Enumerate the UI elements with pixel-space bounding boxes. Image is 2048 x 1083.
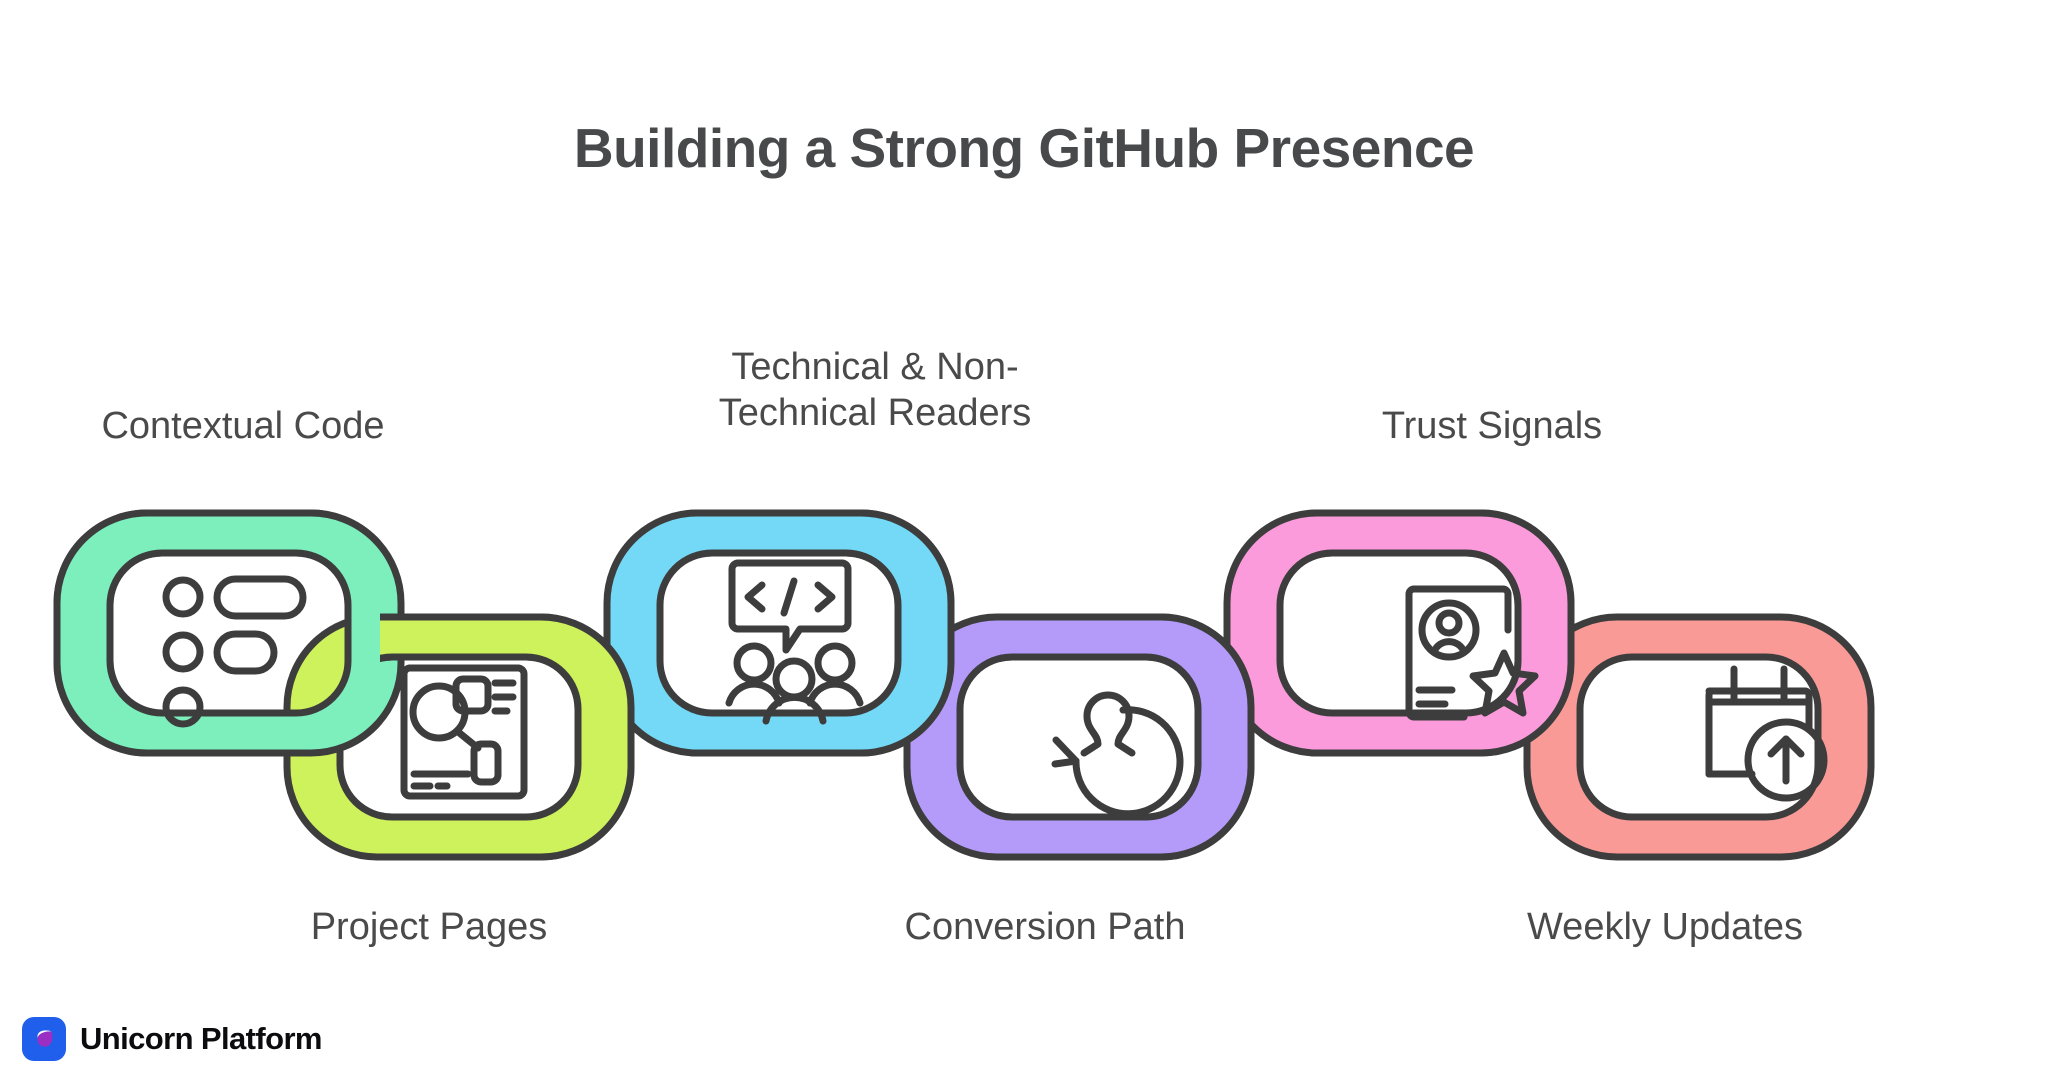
link-label-project-pages: Project Pages [209,904,649,950]
project-page-card-icon [404,668,524,796]
link-label-trust-signals: Trust Signals [1272,403,1712,449]
user-return-arrow-icon [1055,695,1180,814]
brand-name: Unicorn Platform [80,1021,322,1057]
link-label-conversion-path: Conversion Path [825,904,1265,950]
droplet-glyph [30,1025,58,1053]
link-label-contextual-code: Contextual Code [23,403,463,449]
link-label-weekly-updates: Weekly Updates [1445,904,1885,950]
link-label-technical-readers: Technical & Non- Technical Readers [655,344,1095,437]
brand-footer: Unicorn Platform [22,1017,322,1061]
calendar-upload-icon [1709,669,1824,798]
chain-diagram: Contextual Code Project Pages Technical … [0,0,2048,1083]
code-audience-icon [729,563,860,721]
unicorn-droplet-icon [22,1017,66,1061]
bullet-list-icon [166,579,303,724]
